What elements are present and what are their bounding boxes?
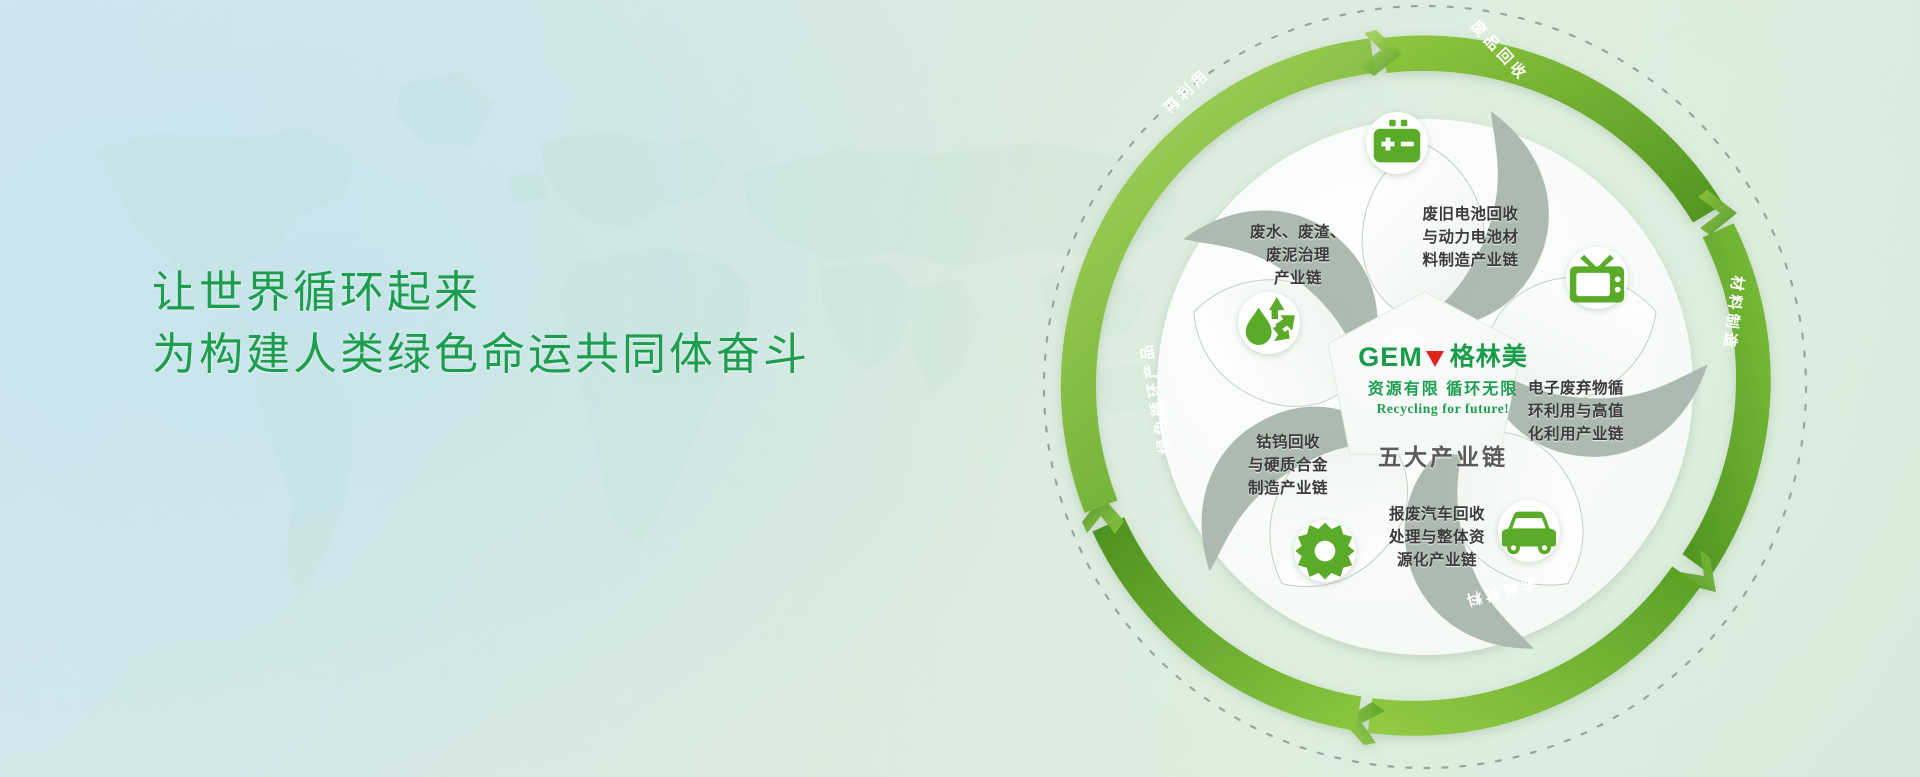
page-title: 让世界循环起来 为构建人类绿色命运共同体奋斗	[152, 262, 810, 387]
tv-glyph	[1566, 247, 1628, 309]
battery-glyph	[1366, 112, 1428, 174]
battery-icon	[1366, 112, 1428, 174]
logo-slogan-en: Recycling for future!	[1328, 401, 1558, 417]
gem-logo: GEM 格林美 资源有限 循环无限 Recycling for future! …	[1328, 344, 1558, 472]
segment-label-battery: 废旧电池回收 与动力电池材 料制造产业链	[1403, 204, 1538, 273]
car-icon	[1498, 500, 1560, 562]
headline-line-2: 为构建人类绿色命运共同体奋斗	[152, 324, 810, 386]
gear-glyph	[1294, 520, 1356, 582]
logo-slogan-cn: 资源有限 循环无限	[1328, 375, 1558, 399]
left-glow	[0, 0, 1152, 777]
headline-line-1: 让世界循环起来	[152, 262, 810, 324]
segment-label-waste-water: 废水、废渣、 废泥治理 产业链	[1232, 222, 1364, 291]
gear-icon	[1294, 520, 1356, 582]
five-industry-chain-diagram: 废旧电池回收 与动力电池材 料制造产业链 废水、废渣、 废泥治理 产业链	[1010, 0, 1840, 777]
recycle-drop-icon	[1238, 292, 1300, 354]
logo-gem-text: GEM	[1358, 344, 1423, 371]
car-glyph	[1498, 500, 1560, 562]
tv-icon	[1566, 247, 1628, 309]
recycle-drop-glyph	[1238, 292, 1300, 354]
diagram-core-label: 五大产业链	[1328, 438, 1558, 472]
logo-wordmark-row: GEM 格林美	[1328, 344, 1558, 371]
logo-chinese-name: 格林美	[1450, 345, 1528, 370]
segment-label-auto-recycling: 报废汽车回收 处理与整体资 源化产业链	[1367, 504, 1507, 573]
logo-red-triangle-icon	[1426, 351, 1444, 367]
